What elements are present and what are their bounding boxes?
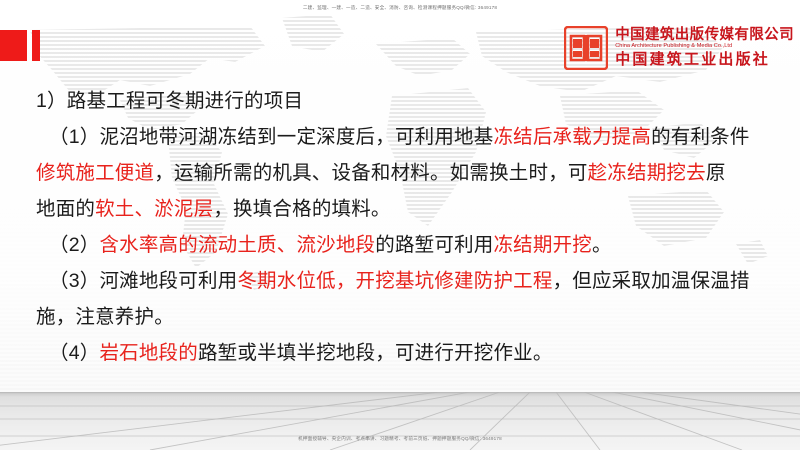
plain-text: 路堑或半填半挖地段，可进行开挖作业。 — [198, 342, 553, 364]
plain-text: ，但应采取加温保温措 — [553, 270, 750, 292]
red-accent-bar — [32, 30, 40, 61]
emphasis-text: 修筑施工便道 — [36, 162, 154, 184]
red-accent-mark — [0, 30, 41, 61]
plain-text: （4） — [49, 342, 99, 364]
plain-text: 施，注意养护。 — [36, 306, 174, 328]
plain-text: （1）泥沼地带河湖冻结到一定深度后，可利用地基 — [49, 126, 493, 148]
plain-text: ，运输所需的机具、设备和材料。如需换土时，可 — [154, 162, 587, 184]
brand-press-cn: 中国建筑工业出版社 — [615, 52, 794, 68]
slide-body-text: 1）路基工程可冬期进行的项目（1）泥沼地带河湖冻结到一定深度后，可利用地基冻结后… — [36, 83, 782, 371]
emphasis-text: 趁冻结期挖去 — [588, 162, 706, 184]
open-book-logo-icon — [564, 26, 608, 70]
text-line-item-2: （2）含水率高的流动土质、流沙地段的路堑可利用冻结期开挖。 — [36, 227, 782, 263]
text-line-item-1-line-1: （1）泥沼地带河湖冻结到一定深度后，可利用地基冻结后承载力提高的有利条件 — [36, 119, 782, 155]
emphasis-text: 冬期水位低，开挖基坑修建防护工程 — [237, 270, 552, 292]
plain-text: 原 — [706, 162, 726, 184]
plain-text: （2） — [49, 234, 99, 256]
emphasis-text: 冻结后承载力提高 — [493, 126, 651, 148]
emphasis-text: 含水率高的流动土质、流沙地段 — [99, 234, 375, 256]
emphasis-text: 软土、淤泥层 — [95, 198, 213, 220]
publisher-brand: 中国建筑出版传媒有限公司 China Architecture Publishi… — [564, 26, 794, 70]
red-accent-block — [0, 30, 27, 61]
header-banner-text: 二建、监理、一建、一造、二造、安全、消防、咨询、检测课程押题服务QQ/微信: 3… — [0, 3, 800, 12]
footer-note-text: 机押面授辅导、央企内训、考点串讲、习题精考、考前三页纸、押题押题服务QQ/微信:… — [0, 434, 800, 443]
text-line-item-3-line-1: （3）河滩地段可利用冬期水位低，开挖基坑修建防护工程，但应采取加温保温措 — [36, 263, 782, 299]
slide-canvas: 二建、监理、一建、一造、二造、安全、消防、咨询、检测课程押题服务QQ/微信: 3… — [0, 0, 800, 450]
emphasis-text: 冻结期开挖 — [493, 234, 592, 256]
plain-text: 的路堑可利用 — [375, 234, 493, 256]
plain-text: ，换填合格的填料。 — [213, 198, 390, 220]
text-line-item-3-line-2: 施，注意养护。 — [36, 299, 782, 335]
plain-text: 1）路基工程可冬期进行的项目 — [36, 90, 303, 112]
plain-text: 。 — [592, 234, 612, 256]
emphasis-text: 岩石地段的 — [99, 342, 198, 364]
plain-text: （3）河滩地段可利用 — [49, 270, 237, 292]
plain-text: 地面的 — [36, 198, 95, 220]
plain-text: 的有利条件 — [651, 126, 750, 148]
text-line-item-1-line-2: 修筑施工便道，运输所需的机具、设备和材料。如需换土时，可趁冻结期挖去原 — [36, 155, 782, 191]
text-line-heading: 1）路基工程可冬期进行的项目 — [36, 83, 782, 119]
text-line-item-1-line-3: 地面的软土、淤泥层，换填合格的填料。 — [36, 191, 782, 227]
brand-company-cn: 中国建筑出版传媒有限公司 — [615, 28, 794, 43]
text-line-item-4: （4）岩石地段的路堑或半填半挖地段，可进行开挖作业。 — [36, 335, 782, 371]
